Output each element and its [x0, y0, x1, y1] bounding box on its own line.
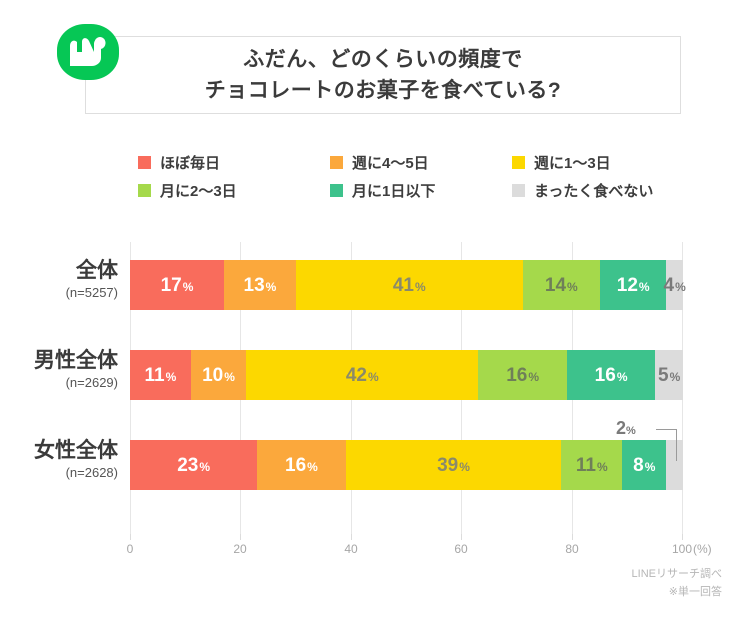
tick-20	[240, 534, 241, 540]
bar-segment[interactable]: 11%	[130, 350, 191, 400]
tick-label-0: 0	[127, 542, 134, 556]
segment-value: 42%	[346, 366, 379, 385]
tick-40	[351, 534, 352, 540]
segment-value: 5%	[658, 366, 680, 385]
legend-item-mattaku-tabenai[interactable]: まったく食べない	[512, 176, 658, 204]
row-label-zentai: 全体 (n=5257)	[0, 258, 118, 302]
line-logo-glyph	[68, 36, 108, 69]
legend-swatch-icon	[138, 156, 151, 169]
tick-label-40: 40	[344, 542, 357, 556]
legend-swatch-icon	[138, 184, 151, 197]
tick-100	[682, 534, 683, 540]
bar-segment[interactable]: 14%	[523, 260, 600, 310]
legend-item-tsuki-1-ika[interactable]: 月に1日以下	[330, 176, 512, 204]
infographic-page: ふだん、どのくらいの頻度で チョコレートのお菓子を食べている? ほぼ毎日 週に4…	[0, 0, 750, 628]
bar-segment[interactable]: 41%	[296, 260, 523, 310]
segment-value: 17%	[161, 276, 194, 295]
bar-row-dansei-zentai: 11% 10% 42% 16% 16% 5%	[130, 350, 683, 400]
bar-row-josei-zentai: 23% 16% 39% 11% 8%	[130, 440, 683, 490]
footer-source: LINEリサーチ調べ	[632, 565, 722, 583]
callout-leader-horizontal	[656, 429, 677, 430]
row-label-name: 全体	[0, 258, 118, 284]
legend-row-2: 月に2〜3日 月に1日以下 まったく食べない	[138, 176, 658, 204]
bar-segment[interactable]: 23%	[130, 440, 257, 490]
segment-value: 14%	[545, 276, 578, 295]
page-title-line-1: ふだん、どのくらいの頻度で	[243, 44, 523, 75]
line-logo-icon	[57, 24, 119, 80]
segment-value: 11%	[145, 366, 177, 385]
bar-segment-small[interactable]	[666, 440, 683, 490]
bar-segment[interactable]: 39%	[346, 440, 562, 490]
bar-segment[interactable]: 4%	[666, 260, 683, 310]
row-label-n: (n=2628)	[0, 464, 118, 482]
segment-value: 10%	[202, 366, 235, 385]
row-label-n: (n=5257)	[0, 284, 118, 302]
segment-value: 16%	[285, 456, 318, 475]
callout-value: 2%	[616, 418, 636, 439]
title-box: ふだん、どのくらいの頻度で チョコレートのお菓子を食べている?	[85, 36, 681, 114]
legend-label: 週に1〜3日	[534, 152, 611, 173]
legend-swatch-icon	[330, 156, 343, 169]
legend-swatch-icon	[512, 184, 525, 197]
tick-label-20: 20	[233, 542, 246, 556]
stacked-bar-chart: 全体 (n=5257) 男性全体 (n=2629) 女性全体 (n=2628)	[0, 230, 750, 550]
legend-label: 週に4〜5日	[352, 152, 429, 173]
legend-label: 月に2〜3日	[160, 180, 237, 201]
page-title-line-2: チョコレートのお菓子を食べている?	[205, 75, 562, 106]
row-label-dansei-zentai: 男性全体 (n=2629)	[0, 348, 118, 392]
legend-label: ほぼ毎日	[160, 152, 220, 173]
bar-segment[interactable]: 17%	[130, 260, 224, 310]
legend-swatch-icon	[330, 184, 343, 197]
plot-area: 0 20 40 60 80 100 (%) 17% 13% 41% 14%	[130, 242, 683, 534]
segment-value: 12%	[617, 276, 650, 295]
bar-segment[interactable]: 11%	[561, 440, 622, 490]
header: ふだん、どのくらいの頻度で チョコレートのお菓子を食べている?	[0, 0, 750, 125]
segment-value: 23%	[177, 456, 210, 475]
tick-label-80: 80	[565, 542, 578, 556]
row-label-josei-zentai: 女性全体 (n=2628)	[0, 438, 118, 482]
bar-row-zentai: 17% 13% 41% 14% 12% 4%	[130, 260, 683, 310]
legend-swatch-icon	[512, 156, 525, 169]
legend-row-1: ほぼ毎日 週に4〜5日 週に1〜3日	[138, 148, 658, 176]
legend-item-tsuki-2-3[interactable]: 月に2〜3日	[138, 176, 330, 204]
segment-value: 41%	[393, 276, 426, 295]
segment-value: 13%	[244, 276, 277, 295]
chart-legend: ほぼ毎日 週に4〜5日 週に1〜3日 月に2〜3日 月に1日以下 ま	[138, 148, 658, 204]
tick-label-100: 100	[672, 542, 692, 556]
row-label-name: 女性全体	[0, 438, 118, 464]
segment-value: 11%	[576, 456, 608, 475]
bar-segment[interactable]: 16%	[478, 350, 566, 400]
bar-segment[interactable]: 16%	[257, 440, 345, 490]
legend-label: まったく食べない	[534, 180, 653, 201]
legend-item-shu-4-5[interactable]: 週に4〜5日	[330, 148, 512, 176]
tick-60	[461, 534, 462, 540]
bar-segment[interactable]: 10%	[191, 350, 246, 400]
segment-value: 16%	[506, 366, 539, 385]
bar-segment[interactable]: 13%	[224, 260, 296, 310]
tick-0	[130, 534, 131, 540]
bar-segment[interactable]: 8%	[622, 440, 666, 490]
segment-value: 16%	[595, 366, 628, 385]
bar-segment[interactable]: 16%	[567, 350, 655, 400]
legend-label: 月に1日以下	[352, 180, 435, 201]
segment-value: 39%	[437, 456, 470, 475]
tick-label-60: 60	[454, 542, 467, 556]
footer: LINEリサーチ調べ ※単一回答	[632, 565, 722, 601]
segment-value: 4%	[664, 276, 686, 295]
row-label-name: 男性全体	[0, 348, 118, 374]
legend-item-shu-1-3[interactable]: 週に1〜3日	[512, 148, 658, 176]
axis-unit-label: (%)	[693, 542, 712, 556]
footer-note: ※単一回答	[632, 583, 722, 601]
segment-value: 8%	[633, 456, 655, 475]
row-label-n: (n=2629)	[0, 374, 118, 392]
bar-segment[interactable]: 12%	[600, 260, 666, 310]
bar-segment[interactable]: 42%	[246, 350, 478, 400]
legend-item-hobo-mainichi[interactable]: ほぼ毎日	[138, 148, 330, 176]
bar-segment[interactable]: 5%	[655, 350, 683, 400]
tick-80	[572, 534, 573, 540]
